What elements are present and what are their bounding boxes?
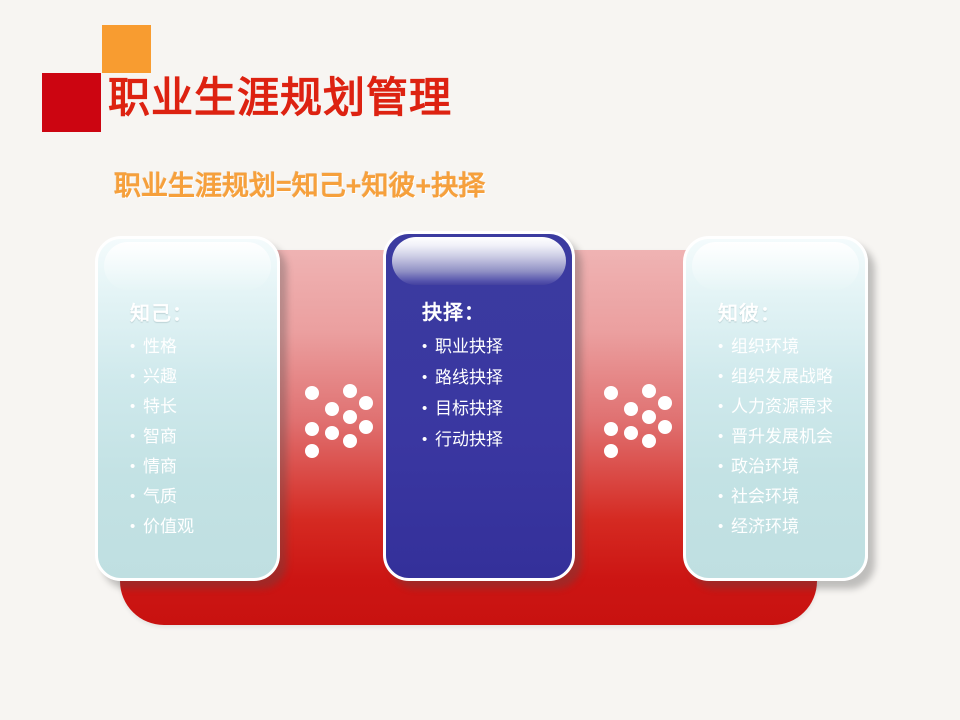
card-body: 知己： 性格 兴趣 特长 智商 情商 气质 价值观 [98,239,277,578]
arrow-dot [604,422,618,436]
card-body: 抉择： 职业抉择 路线抉择 目标抉择 行动抉择 [386,234,572,578]
card-body: 知彼： 组织环境 组织发展战略 人力资源需求 晋升发展机会 政治环境 社会环境 … [686,239,865,578]
list-item: 职业抉择 [422,331,572,362]
list-item: 晋升发展机会 [718,422,865,452]
orange-square-decoration [102,25,151,73]
card-jue-ze[interactable]: 抉择： 职业抉择 路线抉择 目标抉择 行动抉择 [383,231,575,581]
subtitle-formula: 职业生涯规划=知己+知彼+抉择 [114,164,485,203]
arrow-dot [658,420,672,434]
list-item: 路线抉择 [422,362,572,393]
arrow-dot [624,402,638,416]
dot-arrow-right-icon [305,382,373,460]
list-item: 性格 [130,332,277,362]
slide-header: 职业生涯规划管理 职业生涯规划=知己+知彼+抉择 [0,0,960,165]
list-item: 气质 [130,482,277,512]
list-item: 行动抉择 [422,424,572,455]
dot-arrow-right-icon [604,382,672,460]
arrow-dot [325,426,339,440]
arrow-dot [642,410,656,424]
card-list: 性格 兴趣 特长 智商 情商 气质 价值观 [130,332,277,542]
arrow-dot [604,386,618,400]
red-square-decoration [42,73,101,132]
arrow-dot [642,434,656,448]
arrow-dot [624,426,638,440]
arrow-dot [343,384,357,398]
list-item: 价值观 [130,512,277,542]
card-zhi-ji[interactable]: 知己： 性格 兴趣 特长 智商 情商 气质 价值观 [95,236,280,581]
card-list: 职业抉择 路线抉择 目标抉择 行动抉择 [422,331,572,455]
list-item: 特长 [130,392,277,422]
card-list: 组织环境 组织发展战略 人力资源需求 晋升发展机会 政治环境 社会环境 经济环境 [718,332,865,542]
card-zhi-bi[interactable]: 知彼： 组织环境 组织发展战略 人力资源需求 晋升发展机会 政治环境 社会环境 … [683,236,868,581]
list-item: 社会环境 [718,482,865,512]
arrow-dot [359,420,373,434]
list-item: 情商 [130,452,277,482]
page-title: 职业生涯规划管理 [108,69,452,127]
arrow-dot [305,444,319,458]
card-heading: 知彼： [718,297,865,326]
arrow-dot [604,444,618,458]
arrow-dot [305,386,319,400]
list-item: 组织环境 [718,332,865,362]
arrow-dot [642,384,656,398]
arrow-dot [343,434,357,448]
arrow-dot [359,396,373,410]
list-item: 人力资源需求 [718,392,865,422]
list-item: 目标抉择 [422,393,572,424]
card-heading: 知己： [130,297,277,326]
list-item: 组织发展战略 [718,362,865,392]
arrow-dot [325,402,339,416]
card-heading: 抉择： [422,296,572,325]
arrow-dot [343,410,357,424]
list-item: 政治环境 [718,452,865,482]
list-item: 兴趣 [130,362,277,392]
arrow-dot [658,396,672,410]
arrow-dot [305,422,319,436]
list-item: 智商 [130,422,277,452]
list-item: 经济环境 [718,512,865,542]
